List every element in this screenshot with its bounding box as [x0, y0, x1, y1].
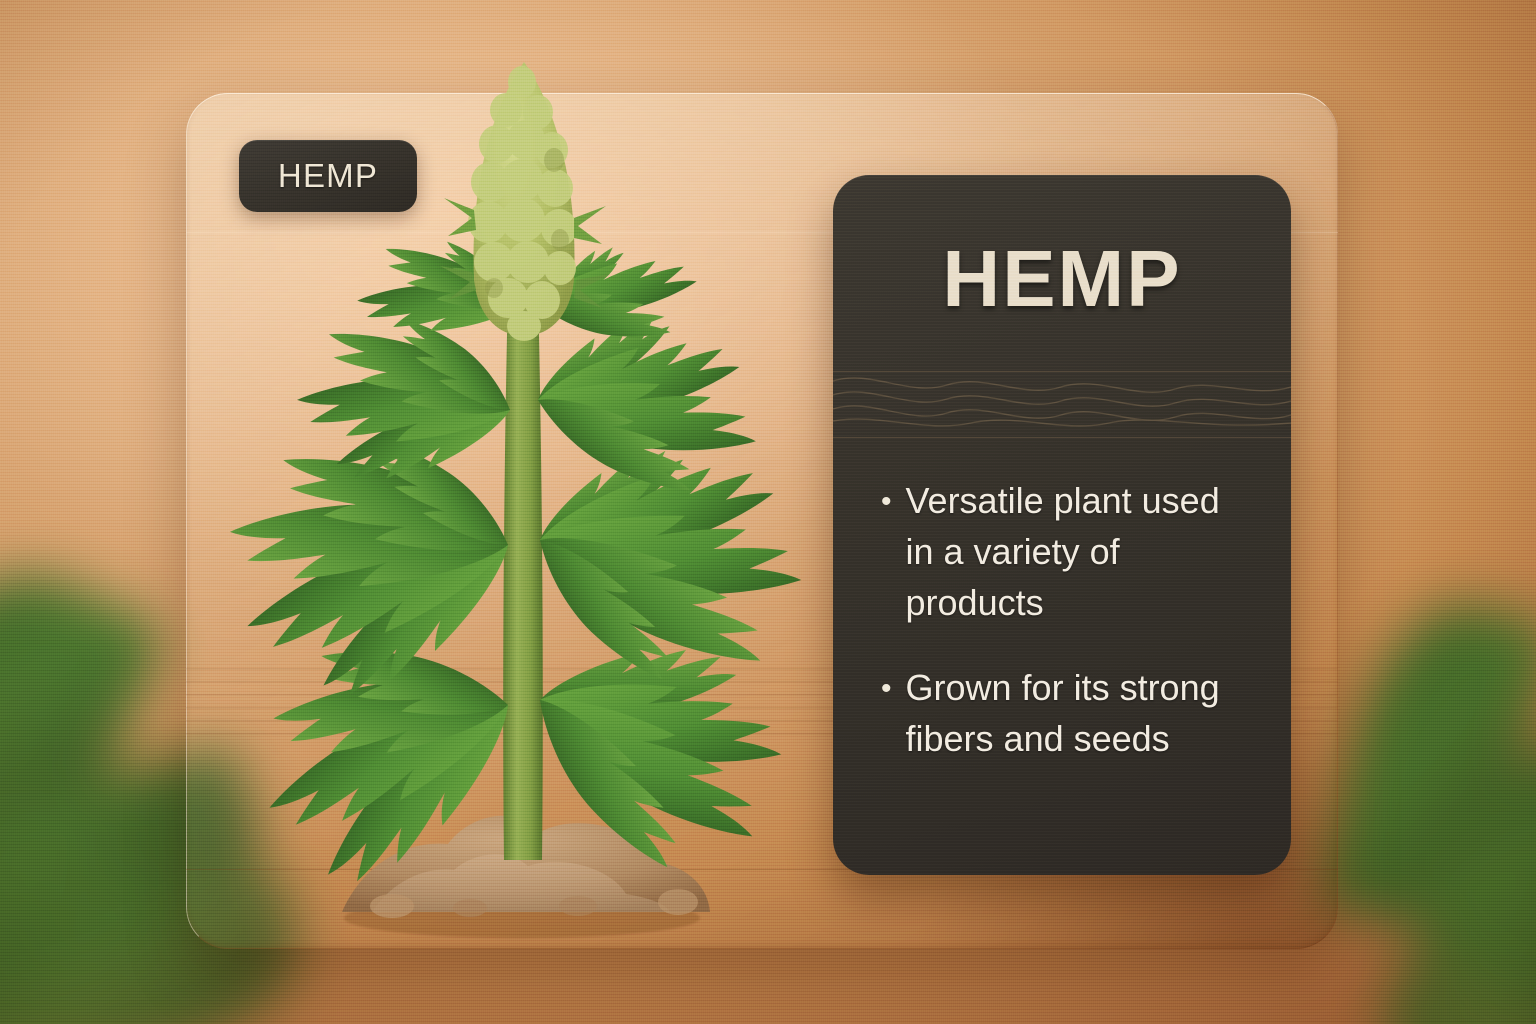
poster-canvas: HEMP HEMP • Versatile plant used in a va…: [0, 0, 1536, 1024]
image-grain: [0, 0, 1536, 1024]
